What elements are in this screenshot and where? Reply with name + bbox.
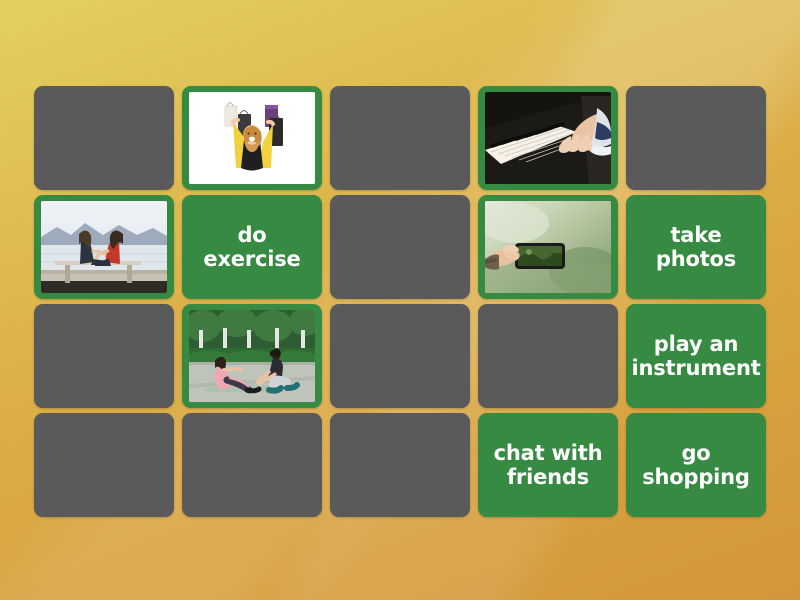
tile-word-15[interactable]: play an instrument: [626, 304, 766, 408]
two-friends-talking-on-dock-photo: [41, 201, 167, 293]
tile-word-label: go shopping: [626, 413, 766, 517]
tile-word-20[interactable]: go shopping: [626, 413, 766, 517]
tile-picture-6[interactable]: [34, 195, 174, 299]
tile-picture-9[interactable]: [478, 195, 618, 299]
hands-playing-piano-photo: [485, 92, 611, 184]
tile-picture-4[interactable]: [478, 86, 618, 190]
tile-word-10[interactable]: take photos: [626, 195, 766, 299]
tile-facedown-17[interactable]: [182, 413, 322, 517]
tile-picture-2[interactable]: [182, 86, 322, 190]
tile-word-label: chat with friends: [478, 413, 618, 517]
tile-facedown-11[interactable]: [34, 304, 174, 408]
tile-word-label: do exercise: [182, 195, 322, 299]
couple-doing-situps-outdoors-photo: [189, 310, 315, 402]
tile-picture-12[interactable]: [182, 304, 322, 408]
woman-holding-shopping-bags-photo: [189, 92, 315, 184]
hand-holding-phone-taking-photo-photo: [485, 201, 611, 293]
tile-word-label: take photos: [626, 195, 766, 299]
tile-word-label: play an instrument: [626, 304, 766, 408]
tile-facedown-14[interactable]: [478, 304, 618, 408]
matching-pairs-board: do exercise: [34, 86, 766, 516]
tile-facedown-8[interactable]: [330, 195, 470, 299]
tile-word-19[interactable]: chat with friends: [478, 413, 618, 517]
tile-facedown-1[interactable]: [34, 86, 174, 190]
tile-facedown-5[interactable]: [626, 86, 766, 190]
tile-facedown-16[interactable]: [34, 413, 174, 517]
tile-facedown-18[interactable]: [330, 413, 470, 517]
tile-word-7[interactable]: do exercise: [182, 195, 322, 299]
tile-facedown-13[interactable]: [330, 304, 470, 408]
tile-facedown-3[interactable]: [330, 86, 470, 190]
